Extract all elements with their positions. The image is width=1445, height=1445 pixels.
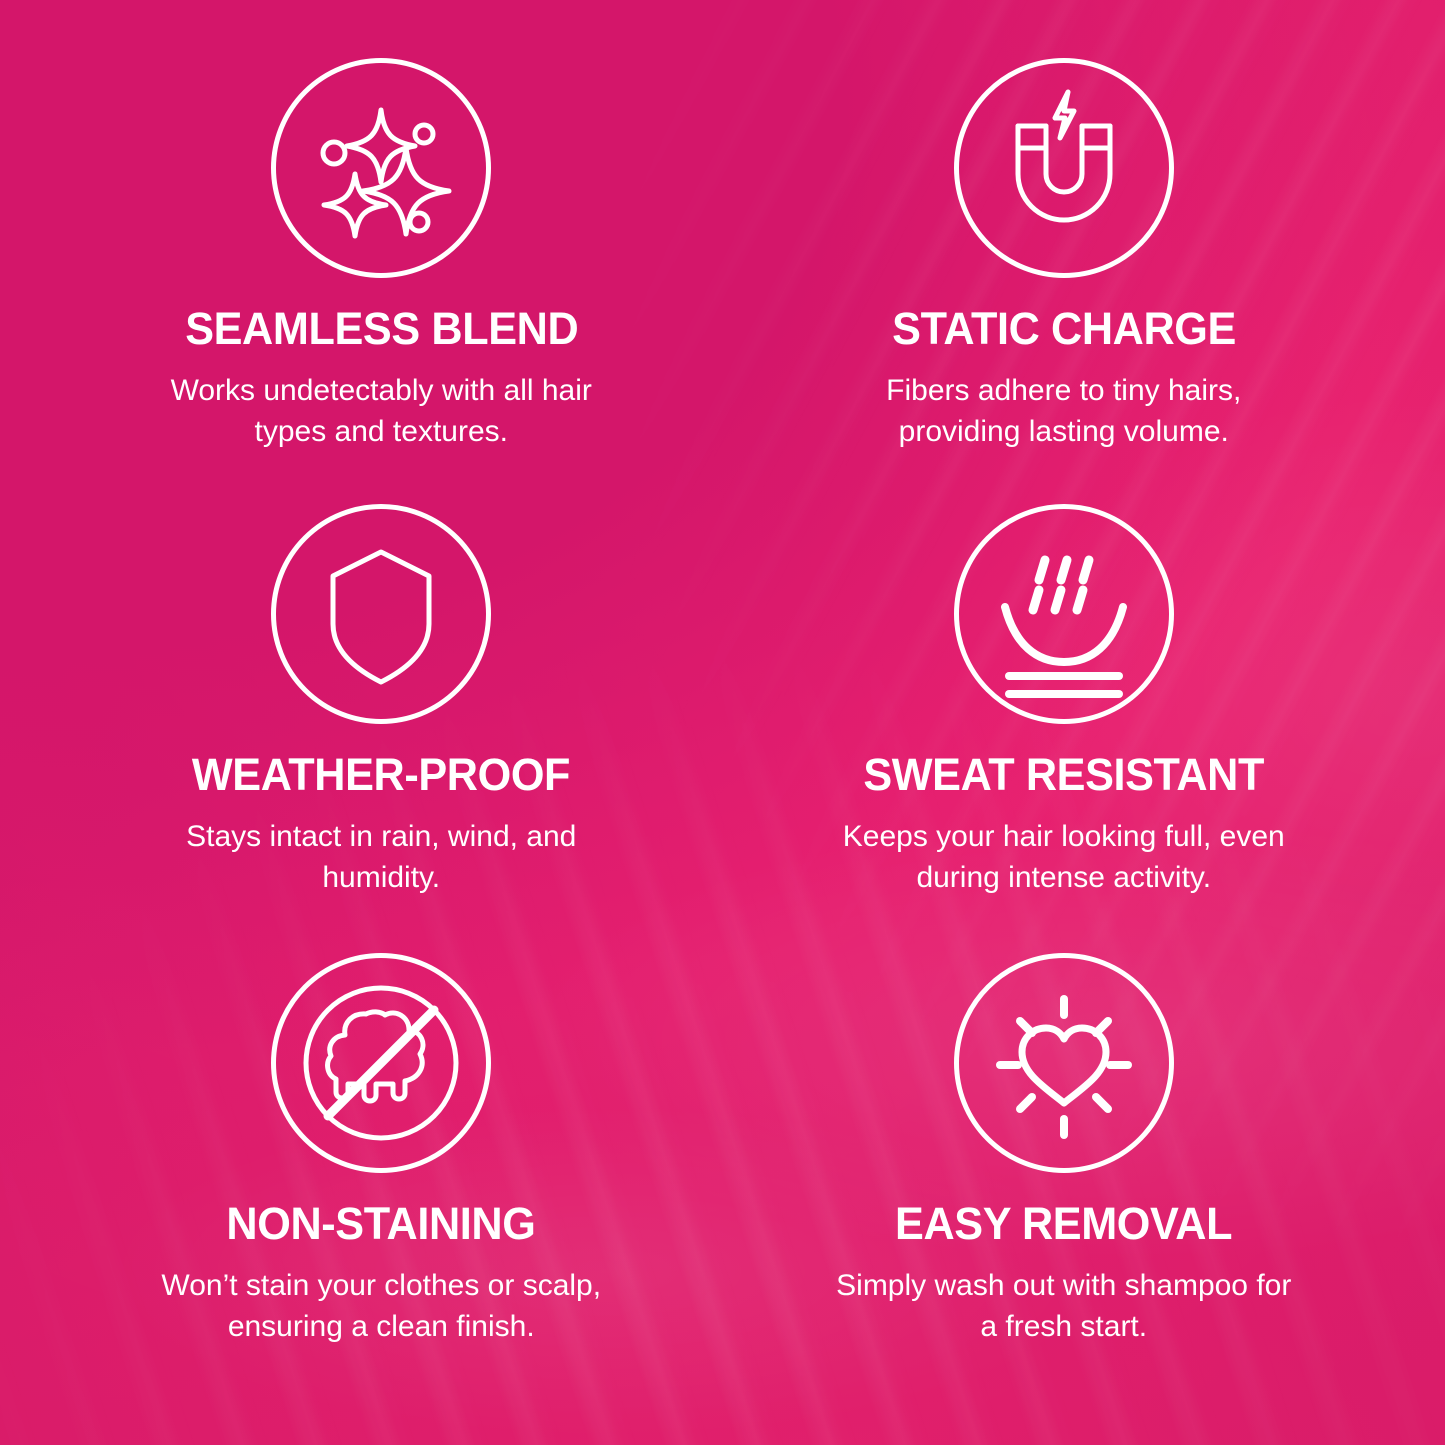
- magnet-icon: [952, 56, 1176, 280]
- feature-title: SEAMLESS BLEND: [185, 306, 578, 351]
- feature-card-sweat-resistant: SWEAT RESISTANT Keeps your hair looking …: [723, 502, 1406, 950]
- feature-grid: SEAMLESS BLEND Works undetectably with a…: [0, 0, 1445, 1445]
- feature-description: Simply wash out with shampoo for a fresh…: [829, 1265, 1299, 1347]
- feature-card-static-charge: STATIC CHARGE Fibers adhere to tiny hair…: [723, 54, 1406, 502]
- feature-card-seamless-blend: SEAMLESS BLEND Works undetectably with a…: [40, 54, 723, 502]
- feature-title: STATIC CHARGE: [892, 306, 1236, 351]
- feature-card-non-staining: NON-STAINING Won’t stain your clothes or…: [40, 951, 723, 1399]
- feature-card-weather-proof: WEATHER-PROOF Stays intact in rain, wind…: [40, 502, 723, 950]
- sparkles-icon: [269, 56, 493, 280]
- no-stain-icon: [269, 951, 493, 1175]
- feature-description: Fibers adhere to tiny hairs, providing l…: [829, 370, 1299, 452]
- feature-title: WEATHER-PROOF: [192, 752, 570, 797]
- feature-description: Won’t stain your clothes or scalp, ensur…: [146, 1265, 616, 1347]
- feature-description: Keeps your hair looking full, even durin…: [829, 816, 1299, 898]
- feature-description: Works undetectably with all hair types a…: [146, 370, 616, 452]
- feature-title: SWEAT RESISTANT: [863, 752, 1264, 797]
- water-repellent-icon: [952, 502, 1176, 726]
- shield-icon: [269, 502, 493, 726]
- feature-description: Stays intact in rain, wind, and humidity…: [146, 816, 616, 898]
- shining-heart-icon: [952, 951, 1176, 1175]
- feature-card-easy-removal: EASY REMOVAL Simply wash out with shampo…: [723, 951, 1406, 1399]
- feature-title: EASY REMOVAL: [895, 1201, 1232, 1246]
- feature-title: NON-STAINING: [227, 1201, 536, 1246]
